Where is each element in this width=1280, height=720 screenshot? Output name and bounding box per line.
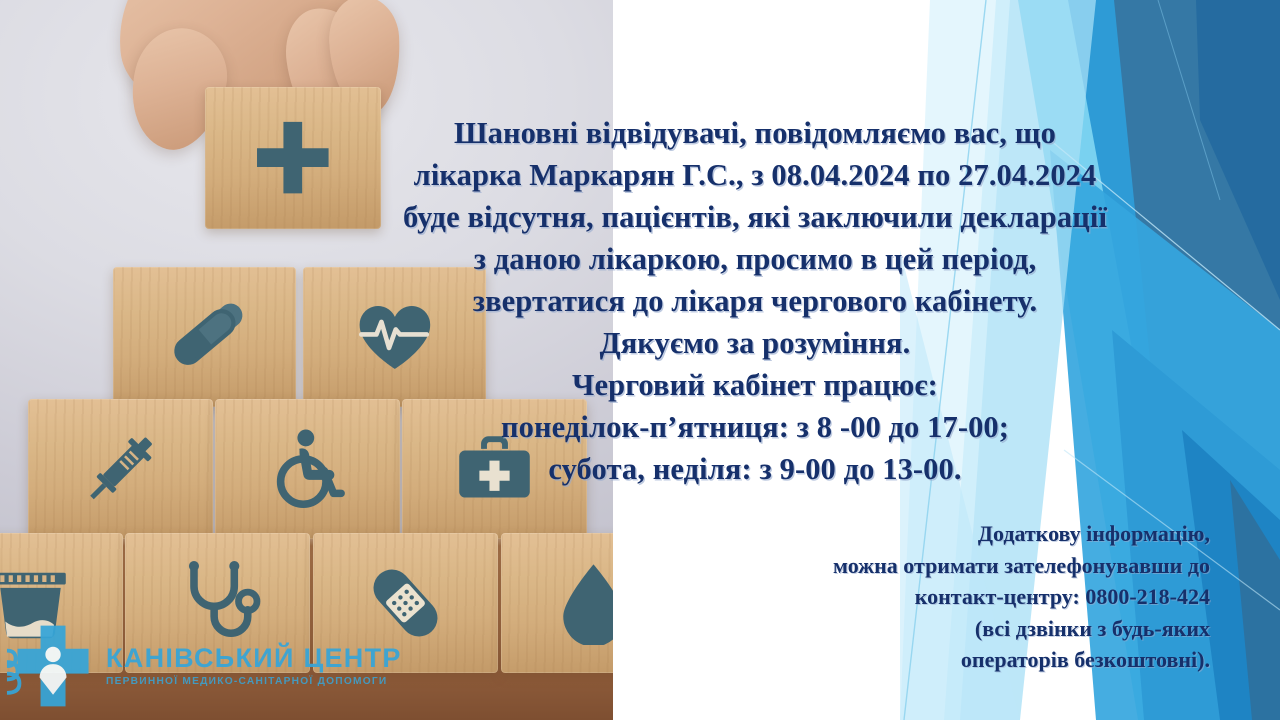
wooden-block <box>113 267 296 407</box>
announcement-body: Шановні відвідувачі, повідомляємо вас, щ… <box>300 112 1210 490</box>
announcement-poster: Шановні відвідувачі, повідомляємо вас, щ… <box>0 0 1280 720</box>
pill-capsule-icon <box>150 295 260 379</box>
organization-logo: КАНІВСЬКИЙ ЦЕНТР ПЕРВИННОЇ МЕДИКО-САНІТА… <box>6 618 402 714</box>
logo-title: КАНІВСЬКИЙ ЦЕНТР <box>106 643 402 673</box>
logo-wordmark: КАНІВСЬКИЙ ЦЕНТР ПЕРВИННОЇ МЕДИКО-САНІТА… <box>106 645 402 687</box>
syringe-icon <box>65 427 176 511</box>
logo-subtitle: ПЕРВИННОЇ МЕДИКО-САНІТАРНОЇ ДОПОМОГИ <box>106 677 402 687</box>
contact-info: Додаткову інформацію, можна отримати зат… <box>520 518 1210 676</box>
wooden-block <box>28 399 213 539</box>
medical-cross-person-logo-icon <box>6 618 102 714</box>
